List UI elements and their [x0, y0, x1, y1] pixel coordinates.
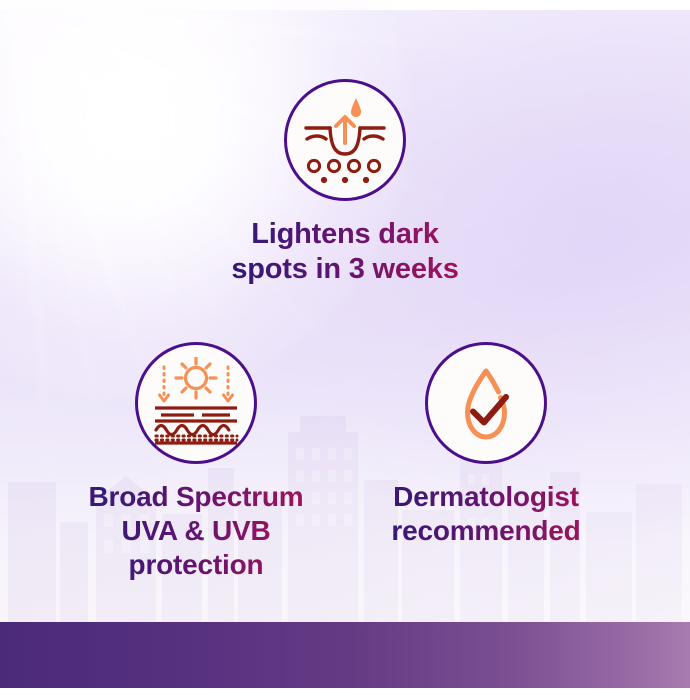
feature-lightens-dark-spots: Lightens dark spots in 3 weeks — [185, 79, 505, 288]
feature-label-dermatologist: Dermatologist recommended — [336, 480, 636, 548]
dermis-dots — [156, 436, 237, 440]
icon-circle-broad-spectrum — [135, 342, 257, 464]
icon-circle-dermatologist — [425, 342, 547, 464]
spark-droplet — [351, 98, 361, 117]
droplet-checkmark-icon — [443, 360, 529, 446]
collagen-wave — [156, 426, 229, 435]
feature-dermatologist-recommended: Dermatologist recommended — [336, 342, 636, 548]
feature-label-lightens: Lightens dark spots in 3 weeks — [185, 217, 505, 288]
feature-broad-spectrum: Broad Spectrum UVA & UVB protection — [41, 342, 351, 582]
sun-uv-skin-layers-icon — [150, 357, 242, 449]
icon-circle-lightens — [284, 79, 406, 201]
skin-dark-spot-lifting-icon — [299, 94, 391, 186]
bottom-accent-bar — [0, 622, 690, 688]
check-mark — [473, 397, 506, 423]
benefits-panel: Lightens dark spots in 3 weeks — [0, 0, 690, 700]
features-content: Lightens dark spots in 3 weeks — [0, 0, 690, 700]
feature-label-broad-spectrum: Broad Spectrum UVA & UVB protection — [41, 480, 351, 582]
